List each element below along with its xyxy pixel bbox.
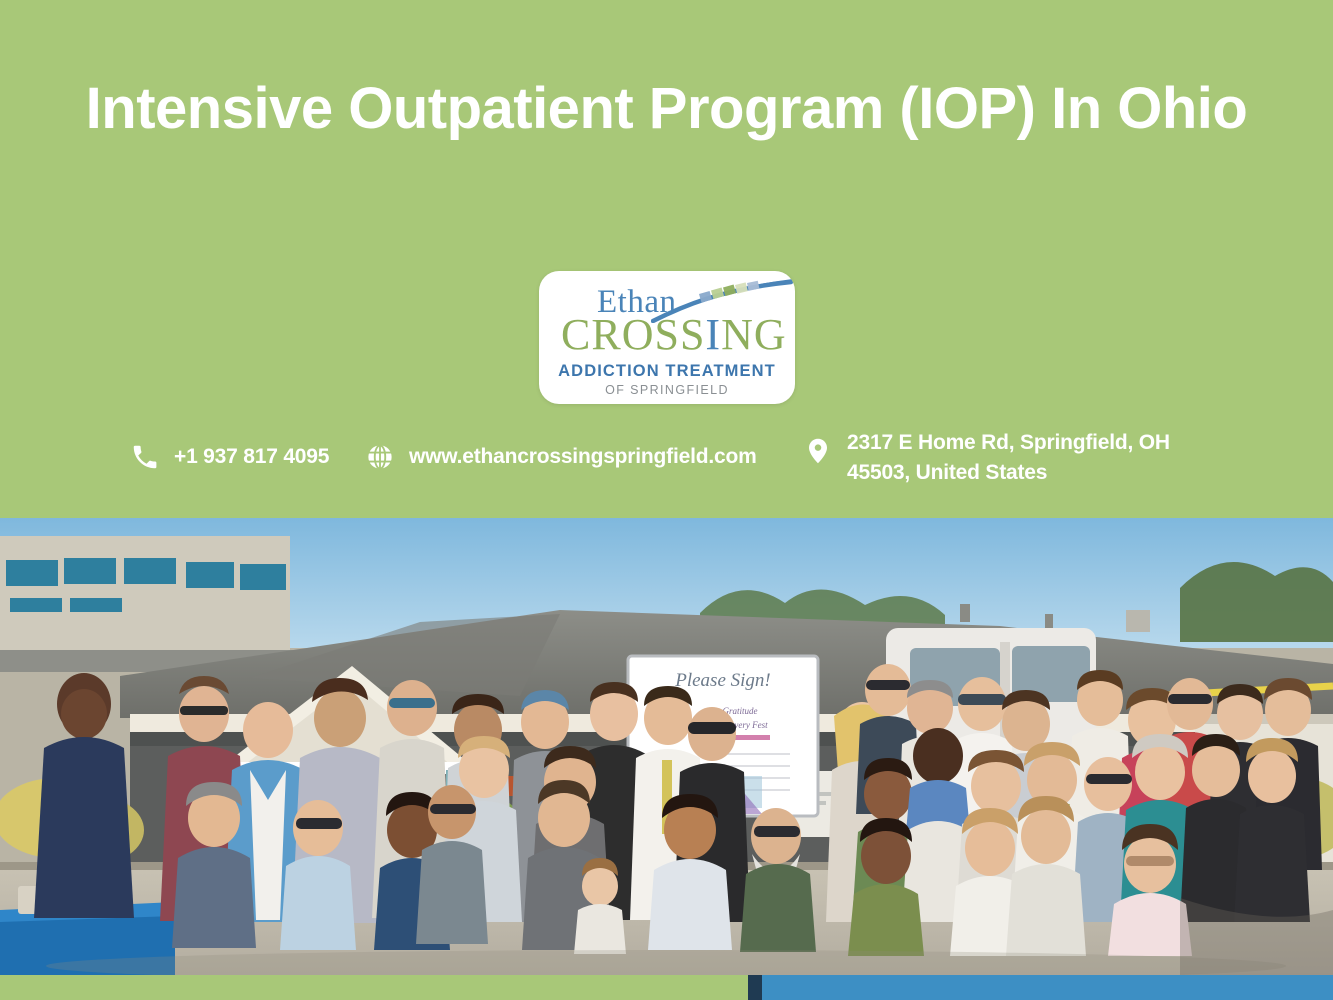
bottom-bar-green-segment (0, 975, 748, 1000)
brand-logo-card: Ethan CROSSING ADDICTION TREATMENT (539, 271, 795, 404)
globe-icon (365, 442, 395, 472)
logo-location: OF SPRINGFIELD (539, 383, 795, 397)
group-photo-illustration: Please Sign! Gratitude Recovery Fest (0, 518, 1333, 975)
poster: Intensive Outpatient Program (IOP) In Oh… (0, 0, 1333, 1000)
page-title: Intensive Outpatient Program (IOP) In Oh… (50, 62, 1283, 156)
group-photo: Please Sign! Gratitude Recovery Fest (0, 518, 1333, 975)
logo-tagline: ADDICTION TREATMENT (539, 362, 795, 381)
logo-brand-main-i: I (705, 310, 721, 359)
contact-phone-value: +1 937 817 4095 (174, 442, 329, 472)
bottom-accent-bar (0, 975, 1333, 1000)
contact-address-value: 2317 E Home Rd, Springfield, OH 45503, U… (847, 428, 1170, 488)
logo-brand-main-part2: NG (721, 310, 787, 359)
logo-brand-main-text: CROSSING (561, 313, 773, 357)
bottom-bar-navy-divider (748, 975, 762, 1000)
phone-icon (130, 442, 160, 472)
contact-website[interactable]: www.ethancrossingspringfield.com (365, 442, 757, 472)
contact-row: +1 937 817 4095 www.ethancrossingsprin (0, 428, 1333, 498)
svg-text:Please Sign!: Please Sign! (674, 670, 771, 691)
logo-brand-main-part1: CROSS (561, 310, 705, 359)
header-band: Intensive Outpatient Program (IOP) In Oh… (0, 0, 1333, 518)
contact-address[interactable]: 2317 E Home Rd, Springfield, OH 45503, U… (803, 428, 1203, 488)
contact-website-value: www.ethancrossingspringfield.com (409, 442, 757, 472)
bottom-bar-blue-segment (762, 975, 1333, 1000)
contact-phone[interactable]: +1 937 817 4095 (130, 442, 329, 472)
location-pin-icon (803, 436, 833, 466)
